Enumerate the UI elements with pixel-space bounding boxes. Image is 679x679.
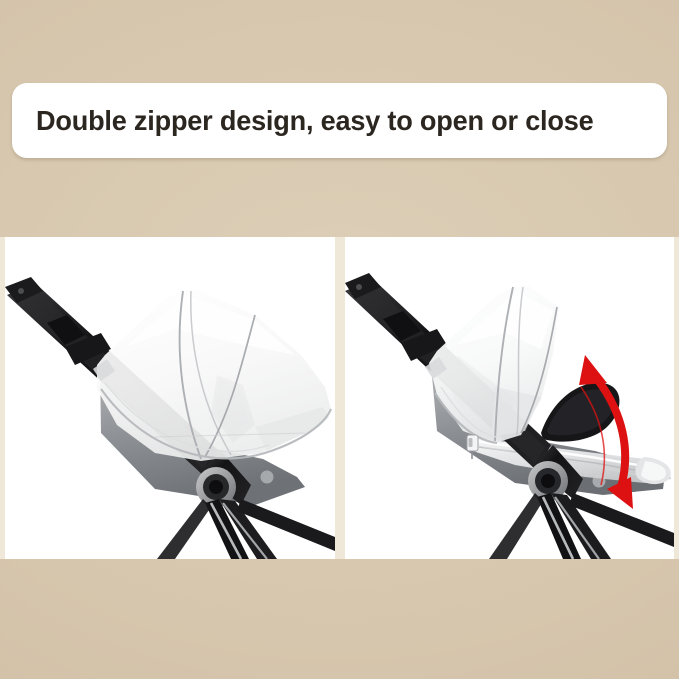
net-closed-photo — [5, 237, 335, 559]
feature-graphic-stage: Double zipper design, easy to open or cl… — [0, 0, 679, 679]
photo-panel-net-open — [345, 237, 674, 559]
photo-panel-row — [0, 237, 679, 559]
headline-text: Double zipper design, easy to open or cl… — [36, 105, 593, 137]
photo-panel-net-closed — [5, 237, 335, 559]
panel-gutter — [335, 237, 345, 559]
net-open-photo — [345, 237, 674, 559]
headline-banner: Double zipper design, easy to open or cl… — [12, 83, 667, 158]
panel-edge-right — [674, 237, 679, 559]
